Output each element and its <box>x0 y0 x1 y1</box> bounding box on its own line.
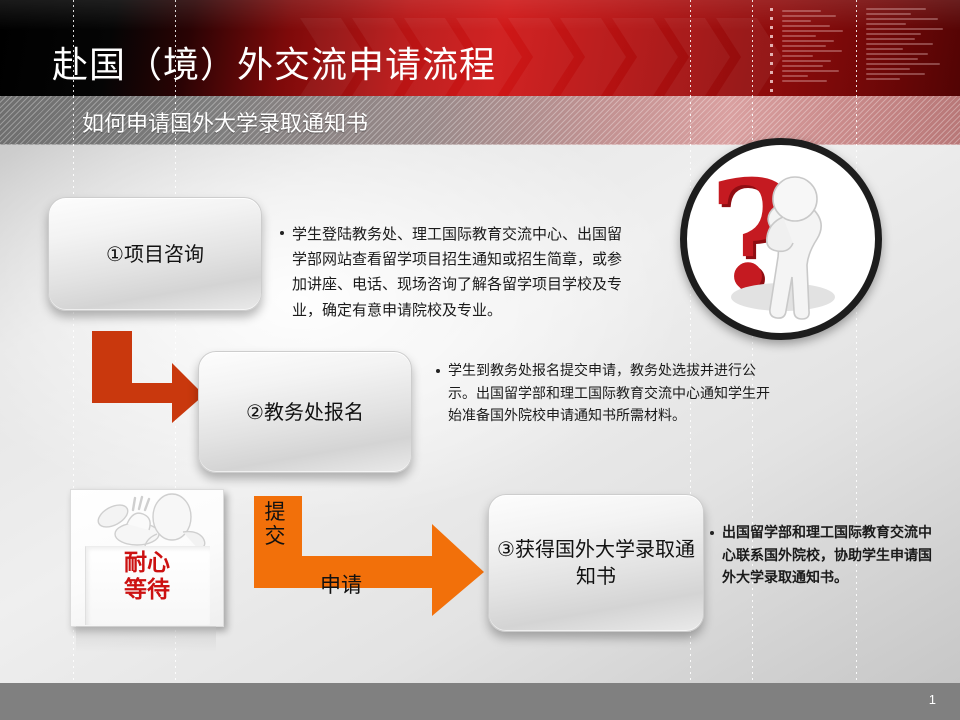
bullet-block-2: 学生到教务处报名提交申请，教务处选拔并进行公示。出国留学部和理工国际教育交流中心… <box>434 360 774 428</box>
arrow-label-submit-text: 提交 <box>265 500 286 548</box>
arrow-label-apply-text: 申请 <box>320 573 362 597</box>
footer-bar: 1 <box>0 683 960 720</box>
bullet-text: 学生登陆教务处、理工国际教育交流中心、出国留学部网站查看留学项目招生通知或招生简… <box>278 222 630 323</box>
bullet-block-3: 出国留学部和理工国际教育交流中心联系国外院校，协助学生申请国外大学录取通知书。 <box>708 522 932 590</box>
subtitle-band: 如何申请国外大学录取通知书 <box>0 96 960 145</box>
thinking-figure-icon <box>687 145 863 321</box>
banner-guide-line <box>752 0 753 96</box>
flow-node-2[interactable]: ②教务处报名 <box>198 351 412 473</box>
page-title: 赴国（境）外交流申请流程 <box>52 36 496 88</box>
bullet-text: 出国留学部和理工国际教育交流中心联系国外院校，协助学生申请国外大学录取通知书。 <box>708 522 932 590</box>
bullet-text: 学生到教务处报名提交申请，教务处选拔并进行公示。出国留学部和理工国际教育交流中心… <box>434 360 774 428</box>
banner-guide-line <box>690 0 691 96</box>
arrow-label-submit: 提交 <box>258 500 292 548</box>
question-mark-circle-icon: ? <box>680 138 882 340</box>
flow-node-3-label: ③获得国外大学录取通知书 <box>489 536 703 590</box>
waiting-reflection <box>76 626 216 652</box>
flow-node-1[interactable]: ①项目咨询 <box>48 197 262 311</box>
page-subtitle: 如何申请国外大学录取通知书 <box>82 106 368 138</box>
waiting-figures-icon: 耐心 等待 <box>70 489 224 627</box>
waiting-text-line2: 等待 <box>71 577 223 604</box>
waiting-text-line1: 耐心 <box>71 550 223 577</box>
header-banner: 赴国（境）外交流申请流程 <box>0 0 960 96</box>
banner-text-block <box>782 10 850 85</box>
bullet-block-1: 学生登陆教务处、理工国际教育交流中心、出国留学部网站查看留学项目招生通知或招生简… <box>278 222 630 323</box>
waiting-text: 耐心 等待 <box>71 550 223 604</box>
flow-node-3[interactable]: ③获得国外大学录取通知书 <box>488 494 704 632</box>
flow-node-2-label: ②教务处报名 <box>246 399 364 426</box>
slide-canvas: 赴国（境）外交流申请流程 如何申请国外大学录取通知书 ? ①项目咨询 学生登陆教… <box>0 0 960 720</box>
banner-text-block <box>866 8 950 83</box>
flow-node-1-label: ①项目咨询 <box>106 241 204 268</box>
elbow-arrow-1-icon <box>88 327 208 425</box>
page-number: 1 <box>929 692 936 707</box>
arrow-label-apply: 申请 <box>308 573 374 597</box>
banner-guide-line <box>856 0 857 96</box>
banner-dot-column <box>770 8 773 94</box>
